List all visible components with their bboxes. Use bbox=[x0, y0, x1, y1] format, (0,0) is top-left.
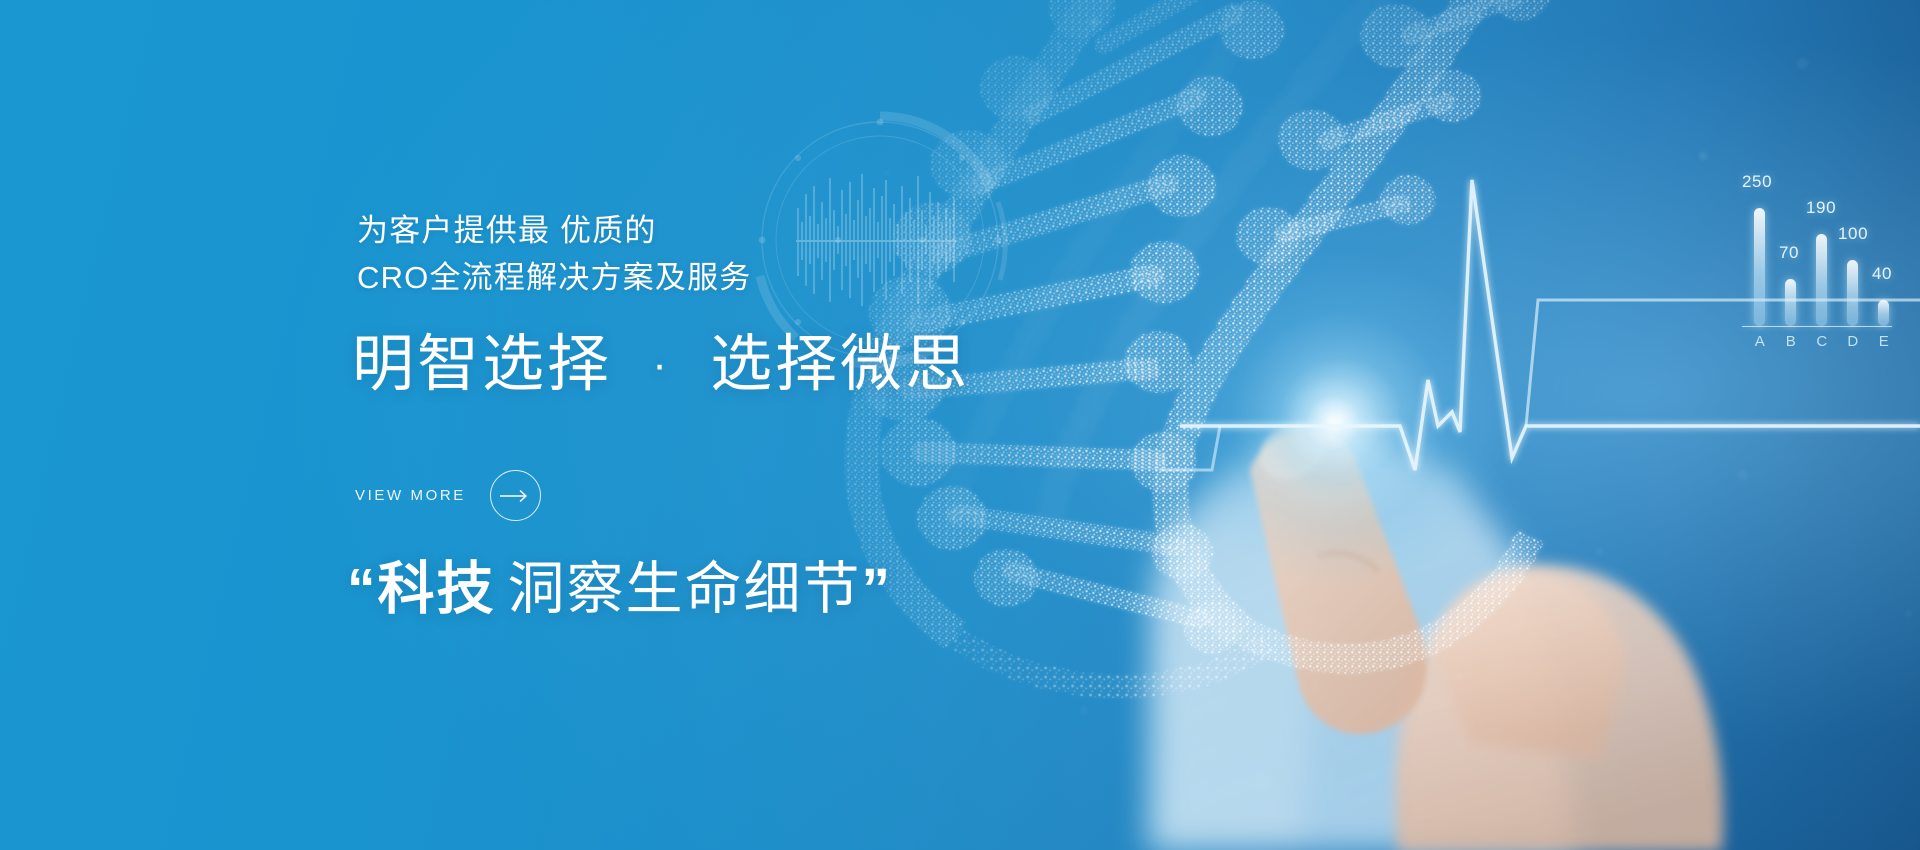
hero-subtitle: 为客户提供最 优质的 CRO全流程解决方案及服务 bbox=[357, 207, 752, 301]
view-more-button[interactable]: VIEW MORE bbox=[355, 470, 541, 521]
hero-subtitle-line-1: 为客户提供最 优质的 bbox=[357, 207, 752, 254]
quote-open-mark: “ bbox=[347, 557, 378, 621]
hero-headline: 明智选择 · 选择微思 bbox=[352, 332, 970, 397]
hero-content: 为客户提供最 优质的 CRO全流程解决方案及服务 明智选择 · 选择微思 VIE… bbox=[0, 0, 1920, 850]
arrow-right-icon bbox=[500, 489, 530, 503]
headline-right-text: 选择微思 bbox=[710, 330, 970, 399]
hero-subtitle-line-2: CRO全流程解决方案及服务 bbox=[357, 254, 752, 301]
quote-strong-text: 科技 bbox=[378, 557, 496, 621]
hero-quote: “科技洞察生命细节” bbox=[347, 558, 892, 621]
quote-light-text: 洞察生命细节 bbox=[496, 557, 862, 621]
hero-banner: 250 A 70 B 190 C 100 D 40 E bbox=[0, 0, 1920, 850]
headline-separator: · bbox=[632, 340, 690, 389]
headline-left-text: 明智选择 bbox=[352, 330, 612, 399]
quote-close-mark: ” bbox=[862, 557, 893, 621]
view-more-circle[interactable] bbox=[490, 470, 541, 521]
view-more-label: VIEW MORE bbox=[355, 487, 466, 504]
